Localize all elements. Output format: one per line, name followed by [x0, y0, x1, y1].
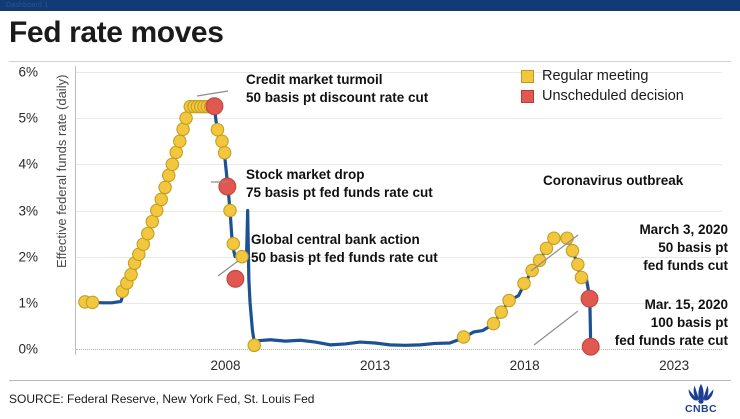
marker-regular-meeting[interactable]: [548, 232, 560, 244]
marker-regular-meeting[interactable]: [457, 331, 469, 343]
marker-regular-meeting[interactable]: [561, 232, 573, 244]
marker-regular-meeting[interactable]: [218, 147, 230, 159]
marker-regular-meeting[interactable]: [155, 193, 167, 205]
marker-regular-meeting[interactable]: [216, 135, 228, 147]
marker-regular-meeting[interactable]: [572, 258, 584, 270]
marker-regular-meeting[interactable]: [211, 124, 223, 136]
y-tick-label-4%: 4%: [18, 157, 38, 172]
annotation-line: Credit market turmoil: [246, 71, 428, 89]
marker-unscheduled-decision[interactable]: [219, 178, 236, 195]
legend-item-regular-meeting: Regular meeting: [521, 66, 684, 86]
y-tick-label-6%: 6%: [18, 65, 38, 80]
annotation-line: Stock market drop: [246, 166, 433, 184]
x-tick-label-2018: 2018: [510, 358, 540, 373]
marker-regular-meeting[interactable]: [163, 169, 175, 181]
marker-regular-meeting[interactable]: [248, 339, 260, 351]
annotation-line: Global central bank action: [251, 231, 438, 249]
legend-item-unscheduled-decision: Unscheduled decision: [521, 86, 684, 106]
annotation-line: fed funds cut: [639, 257, 728, 275]
marker-regular-meeting[interactable]: [166, 158, 178, 170]
window-title: Dashboard 1: [6, 0, 48, 11]
marker-regular-meeting[interactable]: [177, 123, 189, 135]
series-line-0: [85, 106, 596, 347]
marker-unscheduled-decision[interactable]: [582, 338, 599, 355]
y-tick-label-3%: 3%: [18, 203, 38, 218]
window-titlebar: Dashboard 1: [0, 0, 740, 11]
marker-regular-meeting[interactable]: [86, 296, 98, 308]
annotation-credit-market-turmoil: Credit market turmoil50 basis pt discoun…: [246, 71, 428, 107]
marker-regular-meeting[interactable]: [575, 271, 587, 283]
marker-unscheduled-decision[interactable]: [206, 98, 223, 115]
annotation-mar-15-2020: Mar. 15, 2020100 basis ptfed funds rate …: [615, 296, 728, 350]
marker-regular-meeting[interactable]: [236, 250, 248, 262]
y-tick-label-0%: 0%: [18, 342, 38, 357]
marker-regular-meeting[interactable]: [533, 254, 545, 266]
annotation-line: fed funds rate cut: [615, 332, 728, 350]
annotation-coronavirus-outbreak: Coronavirus outbreak: [543, 172, 683, 190]
annotation-global-central-bank-action: Global central bank action50 basis pt fe…: [251, 231, 438, 267]
y-axis-label: Effective federal funds rate (daily): [54, 75, 69, 268]
marker-regular-meeting[interactable]: [495, 306, 507, 318]
source-note: SOURCE: Federal Reserve, New York Fed, S…: [9, 392, 314, 406]
svg-text:CNBC: CNBC: [685, 403, 717, 414]
annotation-line: 50 basis pt discount rate cut: [246, 89, 428, 107]
marker-regular-meeting[interactable]: [170, 146, 182, 158]
marker-unscheduled-decision[interactable]: [581, 290, 598, 307]
marker-regular-meeting[interactable]: [125, 268, 137, 280]
annotation-stock-market-drop: Stock market drop75 basis pt fed funds r…: [246, 166, 433, 202]
legend-swatch-unscheduled-decision-icon: [521, 90, 534, 103]
annotation-march-3-2020: March 3, 202050 basis ptfed funds cut: [639, 221, 728, 275]
legend-label-regular-meeting: Regular meeting: [542, 68, 648, 84]
marker-regular-meeting[interactable]: [174, 135, 186, 147]
marker-regular-meeting[interactable]: [518, 277, 530, 289]
marker-regular-meeting[interactable]: [487, 317, 499, 329]
marker-regular-meeting[interactable]: [566, 244, 578, 256]
marker-unscheduled-decision[interactable]: [227, 270, 244, 287]
chart-legend: Regular meeting Unscheduled decision: [521, 66, 684, 106]
y-tick-label-1%: 1%: [18, 295, 38, 310]
marker-regular-meeting[interactable]: [224, 204, 236, 216]
annotation-line: Coronavirus outbreak: [543, 172, 683, 190]
legend-swatch-regular-meeting-icon: [521, 70, 534, 83]
legend-label-unscheduled-decision: Unscheduled decision: [542, 88, 684, 104]
x-tick-label-2008: 2008: [211, 358, 241, 373]
cnbc-peacock-icon: CNBC: [672, 381, 730, 419]
annotation-line: 75 basis pt fed funds rate cut: [246, 184, 433, 202]
annotation-line: 50 basis pt fed funds rate cut: [251, 249, 438, 267]
page-title: Fed rate moves: [9, 16, 224, 50]
y-tick-label-5%: 5%: [18, 111, 38, 126]
annotation-line: 100 basis pt: [615, 314, 728, 332]
x-tick-label-2023: 2023: [659, 358, 689, 373]
marker-regular-meeting[interactable]: [159, 181, 171, 193]
annotation-line: 50 basis pt: [639, 239, 728, 257]
x-tick-label-2013: 2013: [360, 358, 390, 373]
annotation-line: Mar. 15, 2020: [615, 296, 728, 314]
marker-regular-meeting[interactable]: [503, 294, 515, 306]
marker-regular-meeting[interactable]: [142, 227, 154, 239]
annotation-line: March 3, 2020: [639, 221, 728, 239]
marker-regular-meeting[interactable]: [180, 112, 192, 124]
y-tick-label-2%: 2%: [18, 249, 38, 264]
marker-regular-meeting[interactable]: [227, 238, 239, 250]
